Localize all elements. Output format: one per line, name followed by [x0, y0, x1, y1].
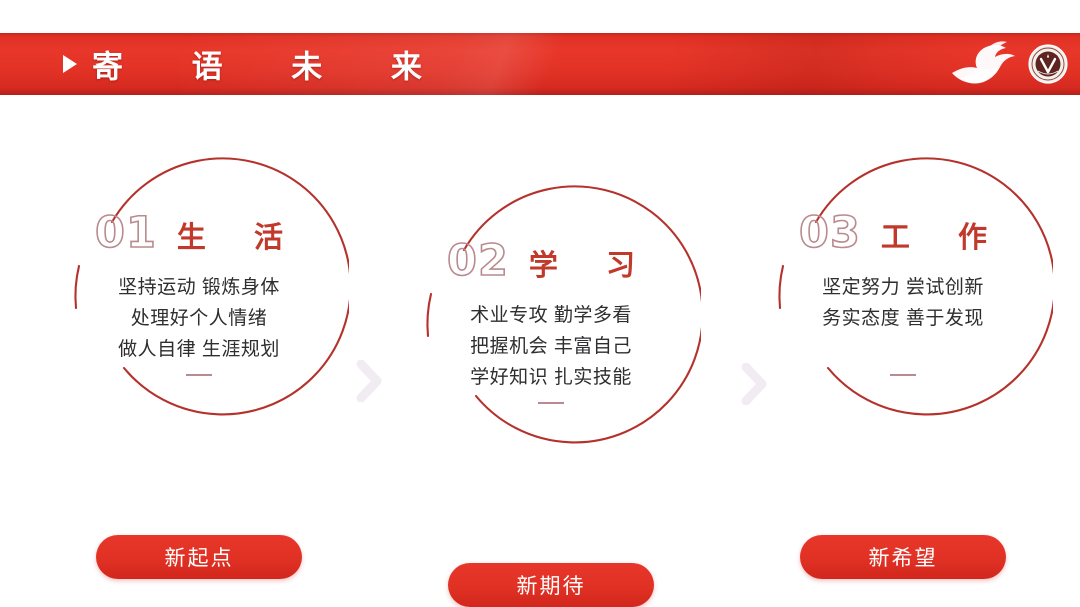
section-line: 处理好个人情绪 [49, 303, 349, 334]
section-line: 把握机会 丰富自己 [401, 331, 701, 362]
section-line: 术业专攻 勤学多看 [401, 300, 701, 331]
section-body-1: 01 生 活 坚持运动 锻炼身体 处理好个人情绪 做人自律 生涯规划 [49, 212, 349, 376]
section-card-3[interactable]: 03 工 作 坚定努力 尝试创新 务实态度 善于发现 [753, 140, 1053, 440]
section-line: 务实态度 善于发现 [753, 303, 1053, 334]
dove-icon [944, 37, 1022, 93]
section-heading-3: 03 工 作 [753, 212, 1053, 258]
section-button-1[interactable]: 新起点 [96, 535, 302, 579]
section-category: 生 活 [171, 224, 303, 253]
section-line: 学好知识 扎实技能 [401, 362, 701, 393]
section-number: 02 [447, 240, 509, 283]
section-number: 03 [799, 212, 861, 255]
banner-shadow-sheen [670, 33, 970, 95]
section-divider-dash [186, 374, 212, 376]
section-line: 坚定努力 尝试创新 [753, 272, 1053, 303]
section-heading-2: 02 学 习 [401, 240, 701, 286]
section-line: 坚持运动 锻炼身体 [49, 272, 349, 303]
section-number: 01 [95, 212, 157, 255]
section-category: 工 作 [875, 224, 1007, 253]
section-lines-3: 坚定努力 尝试创新 务实态度 善于发现 [753, 272, 1053, 376]
section-card-1[interactable]: 01 生 活 坚持运动 锻炼身体 处理好个人情绪 做人自律 生涯规划 [49, 140, 349, 440]
section-heading-1: 01 生 活 [49, 212, 349, 258]
section-card-2[interactable]: 02 学 习 术业专攻 勤学多看 把握机会 丰富自己 学好知识 扎实技能 [401, 168, 701, 468]
banner-title: 寄 语 未 来 [92, 42, 452, 87]
section-button-2[interactable]: 新期待 [448, 563, 654, 607]
section-lines-1: 坚持运动 锻炼身体 处理好个人情绪 做人自律 生涯规划 [49, 272, 349, 376]
chevron-right-icon [355, 360, 385, 402]
play-triangle-icon [63, 55, 77, 73]
section-divider-dash [538, 402, 564, 404]
section-line: 做人自律 生涯规划 [49, 334, 349, 365]
section-category: 学 习 [523, 252, 655, 281]
section-divider-dash [890, 374, 916, 376]
content-stage: 01 生 活 坚持运动 锻炼身体 处理好个人情绪 做人自律 生涯规划 02 学 … [0, 95, 1080, 600]
section-lines-2: 术业专攻 勤学多看 把握机会 丰富自己 学好知识 扎实技能 [401, 300, 701, 404]
header-banner: 寄 语 未 来 [0, 33, 1080, 95]
section-body-2: 02 学 习 术业专攻 勤学多看 把握机会 丰富自己 学好知识 扎实技能 [401, 240, 701, 404]
section-body-3: 03 工 作 坚定努力 尝试创新 务实态度 善于发现 [753, 212, 1053, 376]
school-emblem-icon [1028, 44, 1068, 84]
section-button-3[interactable]: 新希望 [800, 535, 1006, 579]
